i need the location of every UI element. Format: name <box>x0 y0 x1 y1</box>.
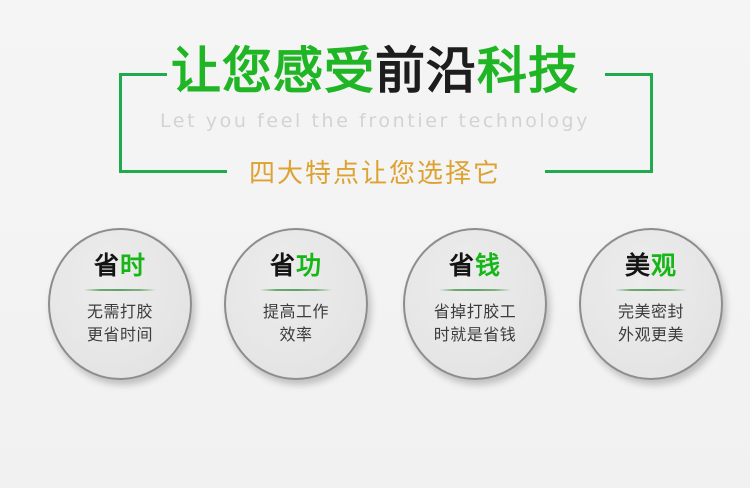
feature-divider-2 <box>260 289 332 291</box>
feature-desc-3-line2: 时就是省钱 <box>434 323 517 346</box>
feature-divider-1 <box>84 289 156 291</box>
feature-title-4: 美观 <box>625 252 677 280</box>
headline-segment-2: 前沿 <box>375 42 477 100</box>
promo-banner: 让您感受前沿科技 Let you feel the frontier techn… <box>0 0 750 488</box>
feature-title-2: 省功 <box>270 252 322 280</box>
headline-segment-1: 让您感受 <box>171 42 375 100</box>
headline: 让您感受前沿科技 <box>0 42 750 100</box>
feature-title-1: 省时 <box>94 252 146 280</box>
feature-title-3-green: 钱 <box>475 251 501 280</box>
feature-title-3-dark: 省 <box>449 251 475 280</box>
feature-divider-3 <box>439 289 511 291</box>
feature-desc-2: 提高工作 效率 <box>263 300 329 346</box>
subtitle-chinese: 四大特点让您选择它 <box>0 153 750 190</box>
feature-circle-2: 省功 提高工作 效率 <box>224 228 368 380</box>
feature-desc-4-line1: 完美密封 <box>618 300 684 323</box>
feature-desc-4: 完美密封 外观更美 <box>618 300 684 346</box>
feature-title-2-dark: 省 <box>270 251 296 280</box>
feature-title-1-green: 时 <box>120 251 146 280</box>
feature-title-1-dark: 省 <box>94 251 120 280</box>
feature-title-4-green: 观 <box>651 251 677 280</box>
feature-divider-4 <box>615 289 687 291</box>
headline-segment-3: 科技 <box>477 42 579 100</box>
feature-desc-4-line2: 外观更美 <box>618 323 684 346</box>
feature-desc-1-line2: 更省时间 <box>87 323 153 346</box>
feature-circle-group: 省时 无需打胶 更省时间 省功 提高工作 效率 省钱 省掉打胶 <box>0 228 750 388</box>
feature-desc-2-line2: 效率 <box>263 323 329 346</box>
feature-circle-3: 省钱 省掉打胶工 时就是省钱 <box>403 228 547 380</box>
feature-desc-3-line1: 省掉打胶工 <box>434 300 517 323</box>
subtitle-english: Let you feel the frontier technology <box>0 110 750 132</box>
feature-desc-1-line1: 无需打胶 <box>87 300 153 323</box>
feature-desc-2-line1: 提高工作 <box>263 300 329 323</box>
feature-title-4-dark: 美 <box>625 251 651 280</box>
feature-desc-1: 无需打胶 更省时间 <box>87 300 153 346</box>
feature-desc-3: 省掉打胶工 时就是省钱 <box>434 300 517 346</box>
feature-title-2-green: 功 <box>296 251 322 280</box>
feature-title-3: 省钱 <box>449 252 501 280</box>
feature-circle-4: 美观 完美密封 外观更美 <box>579 228 723 380</box>
feature-circle-1: 省时 无需打胶 更省时间 <box>48 228 192 380</box>
